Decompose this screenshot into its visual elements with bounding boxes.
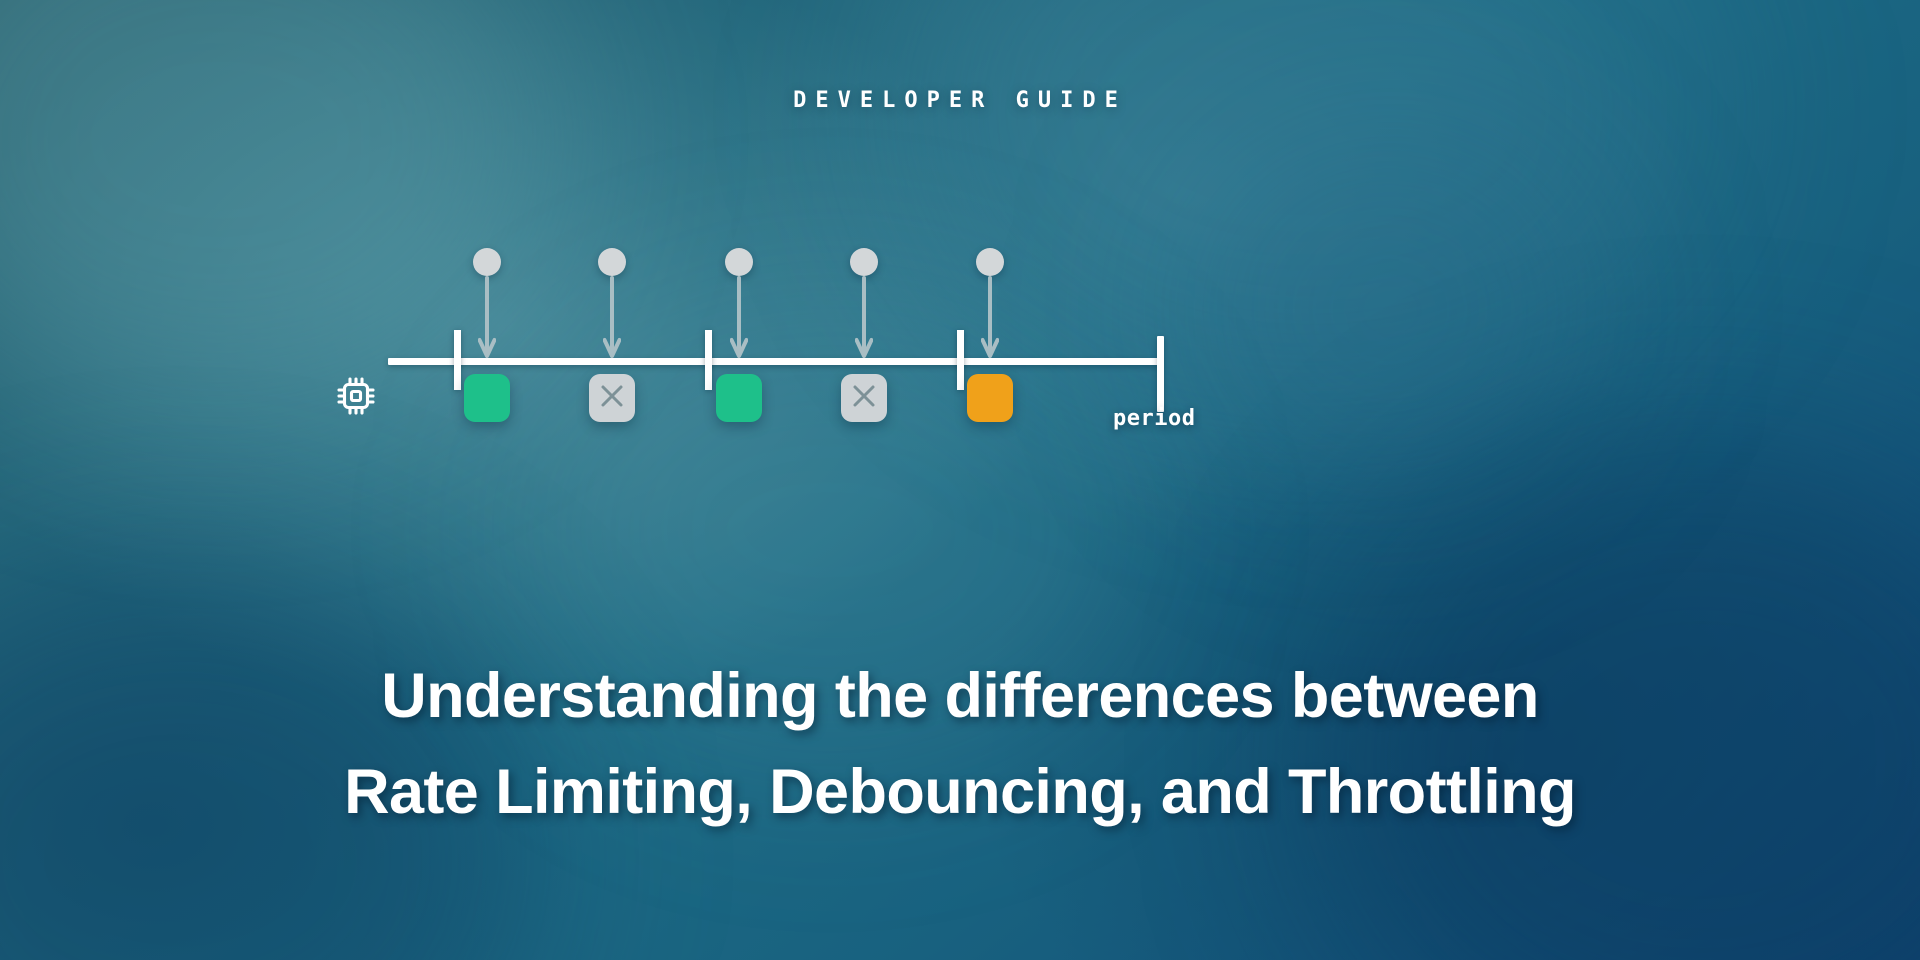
rate-limit-timeline-diagram: period: [0, 0, 1920, 560]
cpu-chip-icon: [332, 372, 380, 420]
cross-icon: [849, 381, 879, 416]
page-title-line-2: Rate Limiting, Debouncing, and Throttlin…: [140, 744, 1780, 840]
timeline-axis: [388, 358, 1160, 365]
poster-canvas: DEVELOPER GUIDE: [0, 0, 1920, 960]
period-divider-tick: [454, 330, 461, 390]
request-outcome-blocked: [589, 374, 635, 422]
request-dot: [976, 248, 1004, 276]
request-dot: [598, 248, 626, 276]
down-arrow-icon: [981, 276, 999, 362]
period-end-tick: [1157, 336, 1164, 412]
cross-icon: [597, 381, 627, 416]
down-arrow-icon: [730, 276, 748, 362]
request-outcome-throttled: [967, 374, 1013, 422]
period-divider-tick: [705, 330, 712, 390]
request-outcome-allowed: [716, 374, 762, 422]
down-arrow-icon: [478, 276, 496, 362]
request-outcome-blocked: [841, 374, 887, 422]
page-title-line-1: Understanding the differences between: [140, 648, 1780, 744]
request-dot: [725, 248, 753, 276]
request-dot: [473, 248, 501, 276]
title-block: Understanding the differences between Ra…: [0, 648, 1920, 840]
down-arrow-icon: [603, 276, 621, 362]
request-dot: [850, 248, 878, 276]
request-outcome-allowed: [464, 374, 510, 422]
period-axis-label: period: [1113, 406, 1195, 431]
down-arrow-icon: [855, 276, 873, 362]
period-divider-tick: [957, 330, 964, 390]
